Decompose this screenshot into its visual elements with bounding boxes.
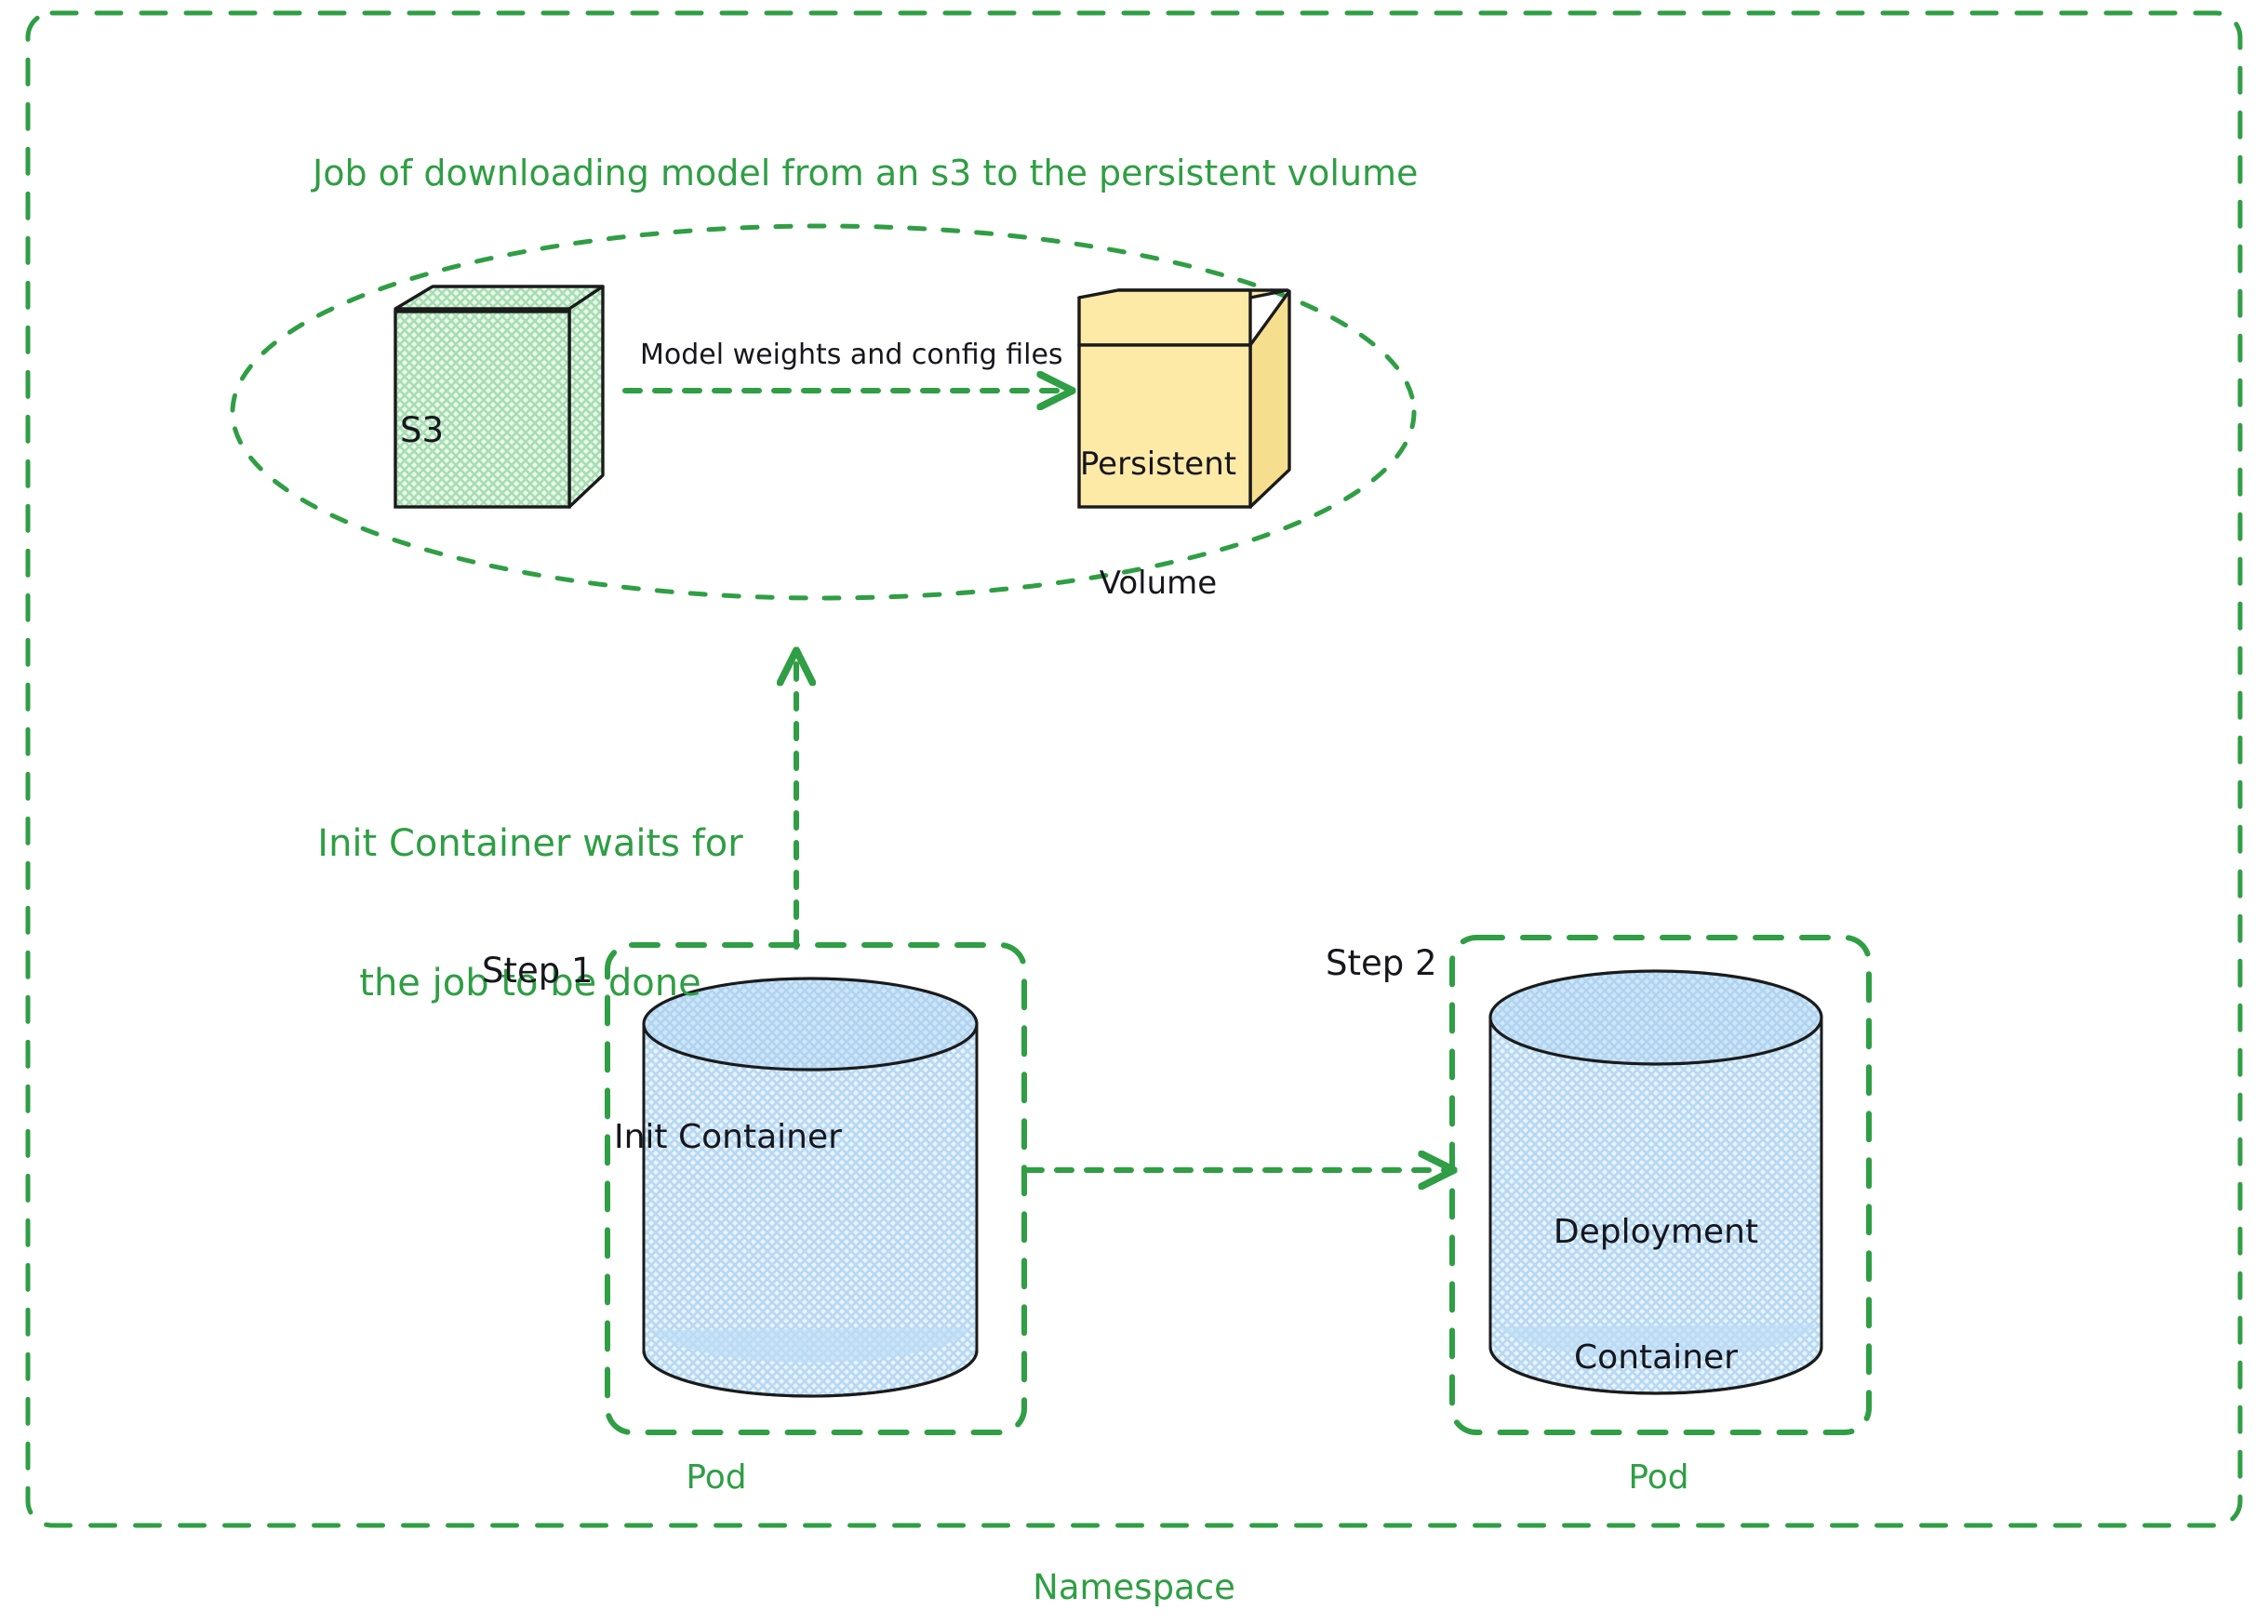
pod-2-label: Pod (1547, 1457, 1770, 1498)
job-group-title: Job of downloading model from an s3 to t… (313, 152, 1418, 196)
s3-cube (395, 286, 603, 507)
diagram-canvas: Job of downloading model from an s3 to t… (0, 0, 2268, 1624)
persistent-volume-label-line1: Persistent (1074, 445, 1242, 485)
wait-note-line1: Init Container waits for (279, 820, 781, 867)
s3-label: S3 (400, 409, 444, 452)
pod-1-label: Pod (605, 1457, 828, 1498)
namespace-label: Namespace (0, 1566, 2268, 1609)
persistent-volume-label-line2: Volume (1074, 564, 1242, 604)
step-2-label: Step 2 (1326, 942, 1437, 985)
persistent-volume-label: Persistent Volume (1074, 366, 1242, 682)
arrow-label-model-weights: Model weights and config files (640, 338, 1063, 373)
deployment-container-label-line2: Container (1507, 1337, 1805, 1378)
step-1-label: Step 1 (482, 950, 594, 992)
deployment-container-label: Deployment Container (1507, 1127, 1805, 1462)
init-container-label: Init Container (614, 1116, 837, 1158)
init-container-wait-note: Init Container waits for the job to be d… (279, 727, 781, 1099)
deployment-container-label-line1: Deployment (1507, 1211, 1805, 1253)
